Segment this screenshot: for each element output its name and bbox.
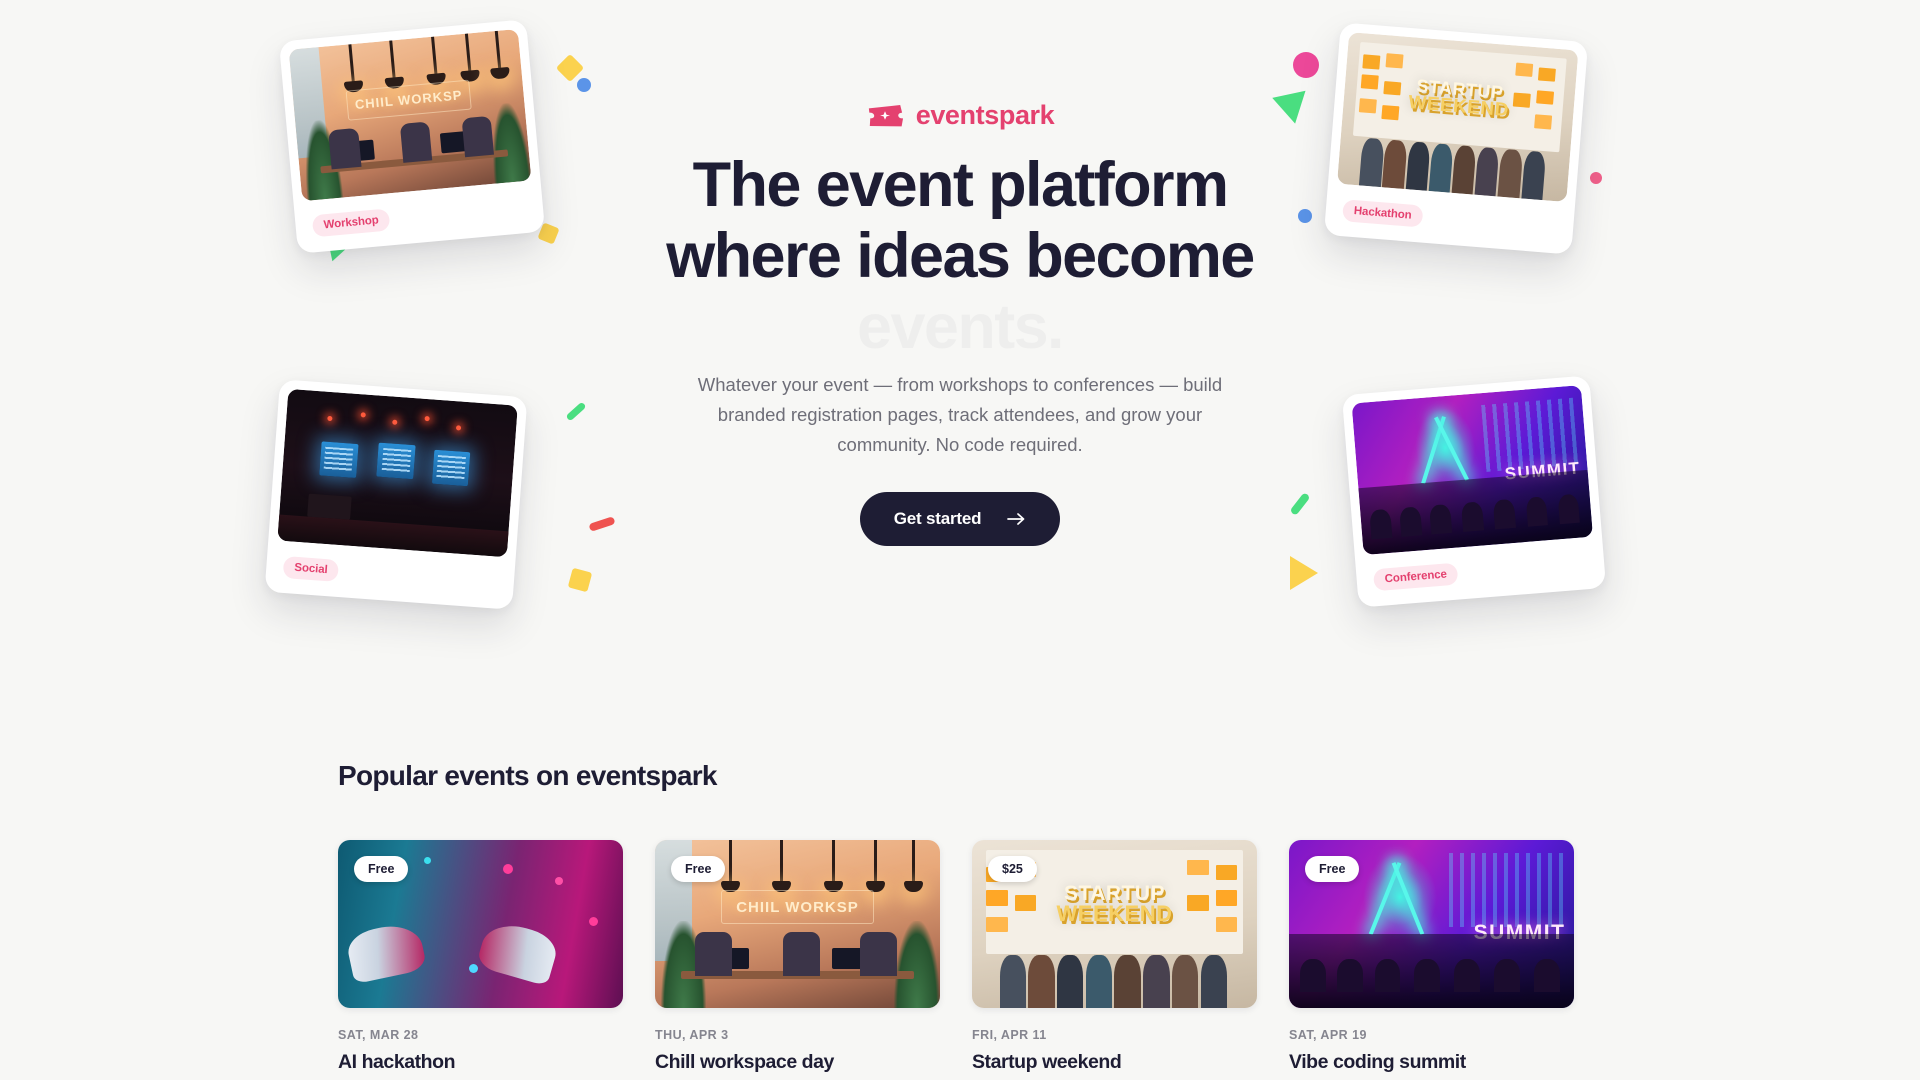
category-pill: Hackathon [1342,199,1423,227]
hero-section: eventspark The event platform where idea… [0,0,1920,760]
event-title: AI hackathon [338,1051,623,1074]
hero-subheadline: Whatever your event — from workshops to … [680,370,1240,460]
floating-card-social[interactable]: Social [265,379,528,610]
floating-card-hackathon[interactable]: STARTUPWEEKEND Hackathon [1324,22,1588,254]
arrow-right-icon [1007,512,1026,526]
category-pill: Social [283,556,340,582]
confetti-blue-dot-1 [577,78,591,92]
price-badge: Free [1305,856,1359,882]
event-card[interactable]: Free SUMMIT [1289,840,1574,1074]
ticket-sparkle-icon [866,102,904,129]
event-title: Vibe coding summit [1289,1051,1574,1074]
event-title: Startup weekend [972,1051,1257,1074]
event-date: SAT, APR 19 [1289,1028,1574,1042]
floating-card-workshop[interactable]: CHIIL WORKSP Workshop [279,19,545,254]
get-started-button[interactable]: Get started [860,492,1061,546]
brand-name: eventspark [916,100,1055,131]
workshop-photo: CHIIL WORKSP [289,29,532,201]
popular-events-section: Popular events on eventspark Free [0,760,1920,1074]
confetti-yellow-triangle [1290,556,1318,590]
price-badge: $25 [988,856,1037,882]
headline-line-2: where ideas become [0,221,1920,292]
event-photo: $25 STARTUPWEEKEND [972,840,1257,1008]
get-started-label: Get started [894,509,982,529]
floating-card-conference[interactable]: SUMMIT Conference [1342,375,1606,607]
event-photo: Free SUMMIT [1289,840,1574,1008]
hero-headline: The event platform where ideas become ev… [0,150,1920,364]
event-card[interactable]: $25 STARTUPWEEKEND [972,840,1257,1074]
event-title: Chill workspace day [655,1051,940,1074]
price-badge: Free [354,856,408,882]
event-date: FRI, APR 11 [972,1028,1257,1042]
event-photo: Free [338,840,623,1008]
confetti-magenta-circle [1293,52,1319,78]
conference-photo: SUMMIT [1352,385,1593,555]
events-grid: Free SAT, MAR 28 AI hac [338,840,1920,1074]
confetti-green-bar-1 [565,402,586,422]
event-card[interactable]: Free SAT, MAR 28 AI hac [338,840,623,1074]
landing-page: eventspark The event platform where idea… [0,0,1920,1080]
confetti-yellow-square-2 [568,568,592,592]
event-date: SAT, MAR 28 [338,1028,623,1042]
price-badge: Free [671,856,725,882]
social-photo [277,389,518,557]
category-pill: Workshop [312,208,391,237]
headline-line-3: events. [0,292,1920,363]
headline-line-1: The event platform [0,150,1920,221]
hackathon-photo: STARTUPWEEKEND [1337,32,1578,202]
section-title: Popular events on eventspark [338,760,1920,792]
category-pill: Conference [1373,563,1459,592]
event-date: THU, APR 3 [655,1028,940,1042]
event-card[interactable]: Free CHIIL WORKSP [655,840,940,1074]
event-photo: Free CHIIL WORKSP [655,840,940,1008]
